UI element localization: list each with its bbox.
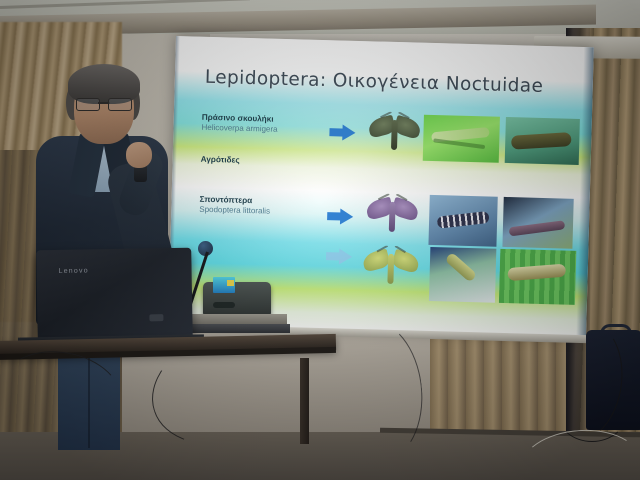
row-4-image-moth — [355, 245, 426, 303]
row-3-label: Σποντόπτερα Spodoptera littoralis — [199, 195, 319, 217]
laptop[interactable]: Lenovo — [36, 248, 193, 341]
row-3-image-spotted-caterpillar — [428, 195, 497, 247]
row-4-image-larva-closeup — [429, 247, 496, 303]
laptop-brand-logo: Lenovo — [59, 267, 89, 275]
row-1-arrow-icon — [329, 124, 355, 141]
row-1-image-caterpillar — [505, 117, 580, 165]
presentation-photo: Lepidoptera: Οικογένεια Noctuidae Πράσιν… — [0, 0, 640, 480]
projector-label — [213, 277, 235, 293]
row-3-image-moth — [359, 193, 426, 243]
row-4-image-striped-caterpillar — [499, 249, 576, 305]
row-3-image-larva-on-leaf — [502, 197, 573, 249]
row-1-label: Πράσινο σκουλήκι Helicoverpa armigera — [201, 113, 321, 135]
row-3-arrow-icon — [327, 208, 353, 225]
laptop-badge — [149, 314, 163, 321]
glasses-icon — [76, 98, 132, 109]
row-1-image-leaf-damage — [423, 115, 500, 163]
row-1-image-moth — [361, 111, 428, 161]
projector-lens-icon — [213, 302, 235, 308]
presenter-hand — [126, 142, 152, 168]
row-4-arrow-icon — [326, 248, 352, 265]
